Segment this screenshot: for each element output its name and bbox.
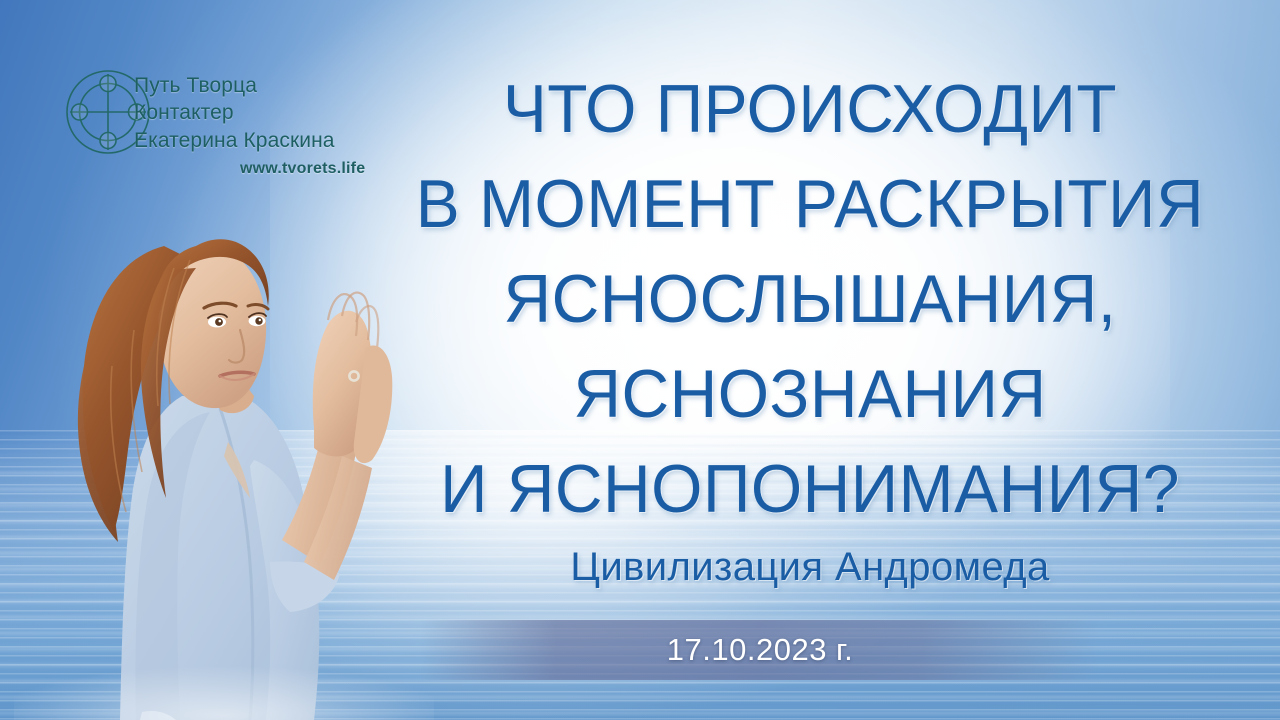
brand-logo-block: Путь Творца Контактер Екатерина Краскина… <box>62 62 362 192</box>
brand-line-1: Путь Творца <box>134 72 335 99</box>
title-line-3: ЯСНОСЛЫШАНИЯ, <box>374 252 1247 347</box>
date-text: 17.10.2023 г. <box>667 632 853 668</box>
subtitle: Цивилизация Андромеда <box>360 543 1260 591</box>
brand-line-3: Екатерина Краскина <box>134 127 335 154</box>
brand-line-2: Контактер <box>134 99 335 126</box>
title-block: ЧТО ПРОИСХОДИТ В МОМЕНТ РАСКРЫТИЯ ЯСНОСЛ… <box>360 62 1260 591</box>
title-card: Путь Творца Контактер Екатерина Краскина… <box>0 0 1280 720</box>
date-banner: 17.10.2023 г. <box>420 620 1100 680</box>
title-line-4: ЯСНОЗНАНИЯ <box>374 347 1247 442</box>
brand-name: Путь Творца Контактер Екатерина Краскина <box>134 72 335 154</box>
brand-website: www.tvorets.life <box>240 160 365 178</box>
title-line-2: В МОМЕНТ РАСКРЫТИЯ <box>374 157 1247 252</box>
title-line-5: И ЯСНОПОНИМАНИЯ? <box>374 442 1247 537</box>
title-line-1: ЧТО ПРОИСХОДИТ <box>374 62 1247 157</box>
